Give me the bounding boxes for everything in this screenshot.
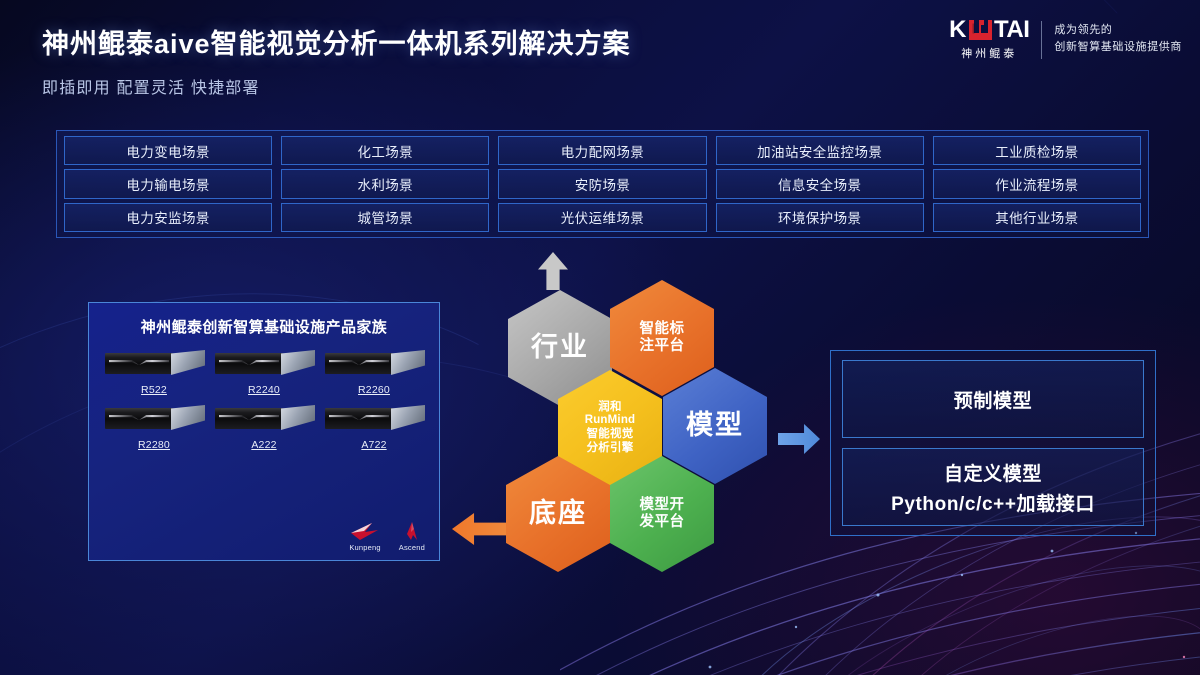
logo-brand-block: K TAI 神州鲲泰 <box>949 18 1029 61</box>
scenario-cell[interactable]: 电力输电场景 <box>64 169 272 198</box>
product-item[interactable]: R2260 <box>319 345 429 396</box>
server-icon <box>105 349 203 379</box>
brand-kunpeng: Kunpeng <box>349 521 380 552</box>
kuntai-un-glyph-icon <box>967 19 993 41</box>
hex-engine-line4: 分析引擎 <box>587 442 634 456</box>
server-icon <box>215 404 313 434</box>
scenario-cell[interactable]: 加油站安全监控场景 <box>716 136 924 165</box>
company-logo: K TAI 神州鲲泰 成为领先的 创新智算基础设施提供商 <box>949 18 1182 61</box>
server-icon <box>105 404 203 434</box>
scenario-cell[interactable]: 信息安全场景 <box>716 169 924 198</box>
slide-header: 神州鲲泰aive智能视觉分析一体机系列解决方案 即插即用 配置灵活 快捷部署 <box>42 22 631 98</box>
scenario-cell[interactable]: 城管场景 <box>281 203 489 232</box>
scenario-cell[interactable]: 化工场景 <box>281 136 489 165</box>
product-family-title: 神州鲲泰创新智算基础设施产品家族 <box>89 316 439 337</box>
hex-engine-line3: 智能视觉 <box>587 428 634 442</box>
page-title: 神州鲲泰aive智能视觉分析一体机系列解决方案 <box>42 22 631 61</box>
product-item[interactable]: R2280 <box>99 400 209 451</box>
logo-letter-k: K <box>949 18 966 42</box>
logo-tagline-line1: 成为领先的 <box>1054 24 1182 38</box>
scenario-cell[interactable]: 作业流程场景 <box>933 169 1141 198</box>
partner-brands: Kunpeng Ascend <box>349 521 425 552</box>
product-label: R522 <box>141 384 167 396</box>
logo-chinese-name: 神州鲲泰 <box>961 45 1017 61</box>
custom-model-api-label: Python/c/c++加载接口 <box>891 489 1095 516</box>
brand-name: Ascend <box>399 543 425 552</box>
preset-model-box[interactable]: 预制模型 <box>842 360 1144 438</box>
hex-dev-line2: 发平台 <box>640 514 685 531</box>
scenario-cell[interactable]: 光伏运维场景 <box>498 203 706 232</box>
scenario-cell[interactable]: 其他行业场景 <box>933 203 1141 232</box>
server-icon <box>325 404 423 434</box>
kunpeng-logo-icon <box>350 521 380 541</box>
brand-ascend: Ascend <box>399 521 425 552</box>
logo-divider <box>1041 21 1042 59</box>
scenario-cell[interactable]: 电力变电场景 <box>64 136 272 165</box>
product-label: A722 <box>361 439 386 451</box>
hex-labeling-line2: 注平台 <box>640 338 685 355</box>
custom-model-label: 自定义模型 <box>944 459 1042 486</box>
model-panel: 预制模型 自定义模型 Python/c/c++加载接口 <box>830 350 1156 536</box>
product-label: R2280 <box>138 439 170 451</box>
hex-base-label: 底座 <box>529 498 587 530</box>
scenario-cell[interactable]: 水利场景 <box>281 169 489 198</box>
scenario-grid: 电力变电场景 化工场景 电力配网场景 加油站安全监控场景 工业质检场景 电力输电… <box>64 136 1141 232</box>
product-label: R2260 <box>358 384 390 396</box>
product-family-panel: 神州鲲泰创新智算基础设施产品家族 R522 R2240 R2260 R2280 … <box>88 302 440 561</box>
product-item[interactable]: A722 <box>319 400 429 451</box>
hexagon-cluster: 行业 智能标 注平台 润和 RunMind 智能视觉 分析引擎 模型 底座 模型… <box>498 258 808 568</box>
product-label: A222 <box>251 439 276 451</box>
ascend-logo-icon <box>400 521 424 541</box>
brand-name: Kunpeng <box>349 543 380 552</box>
scenario-cell[interactable]: 环境保护场景 <box>716 203 924 232</box>
hex-industry-label: 行业 <box>531 332 589 364</box>
scenario-cell[interactable]: 电力配网场景 <box>498 136 706 165</box>
slide-root: 神州鲲泰aive智能视觉分析一体机系列解决方案 即插即用 配置灵活 快捷部署 K… <box>0 0 1200 675</box>
logo-tagline-line2: 创新智算基础设施提供商 <box>1054 41 1182 55</box>
scenario-panel: 电力变电场景 化工场景 电力配网场景 加油站安全监控场景 工业质检场景 电力输电… <box>56 130 1149 238</box>
product-item[interactable]: R522 <box>99 345 209 396</box>
hex-engine-line1: 润和 <box>598 401 621 415</box>
scenario-cell[interactable]: 工业质检场景 <box>933 136 1141 165</box>
product-label: R2240 <box>248 384 280 396</box>
custom-model-box[interactable]: 自定义模型 Python/c/c++加载接口 <box>842 448 1144 526</box>
scenario-cell[interactable]: 电力安监场景 <box>64 203 272 232</box>
hex-dev-line1: 模型开 <box>640 497 685 514</box>
logo-tagline: 成为领先的 创新智算基础设施提供商 <box>1054 24 1182 55</box>
product-item[interactable]: A222 <box>209 400 319 451</box>
server-icon <box>215 349 313 379</box>
scenario-cell[interactable]: 安防场景 <box>498 169 706 198</box>
server-icon <box>325 349 423 379</box>
product-item[interactable]: R2240 <box>209 345 319 396</box>
logo-letters-tai: TAI <box>994 18 1029 42</box>
product-grid: R522 R2240 R2260 R2280 A222 A722 <box>89 345 439 451</box>
hex-engine-line2: RunMind <box>585 414 636 428</box>
logo-wordmark: K TAI <box>949 18 1029 42</box>
preset-model-label: 预制模型 <box>954 386 1032 413</box>
hex-model-label: 模型 <box>686 410 744 442</box>
page-subtitle: 即插即用 配置灵活 快捷部署 <box>42 74 631 98</box>
hex-labeling-line1: 智能标 <box>640 321 685 338</box>
